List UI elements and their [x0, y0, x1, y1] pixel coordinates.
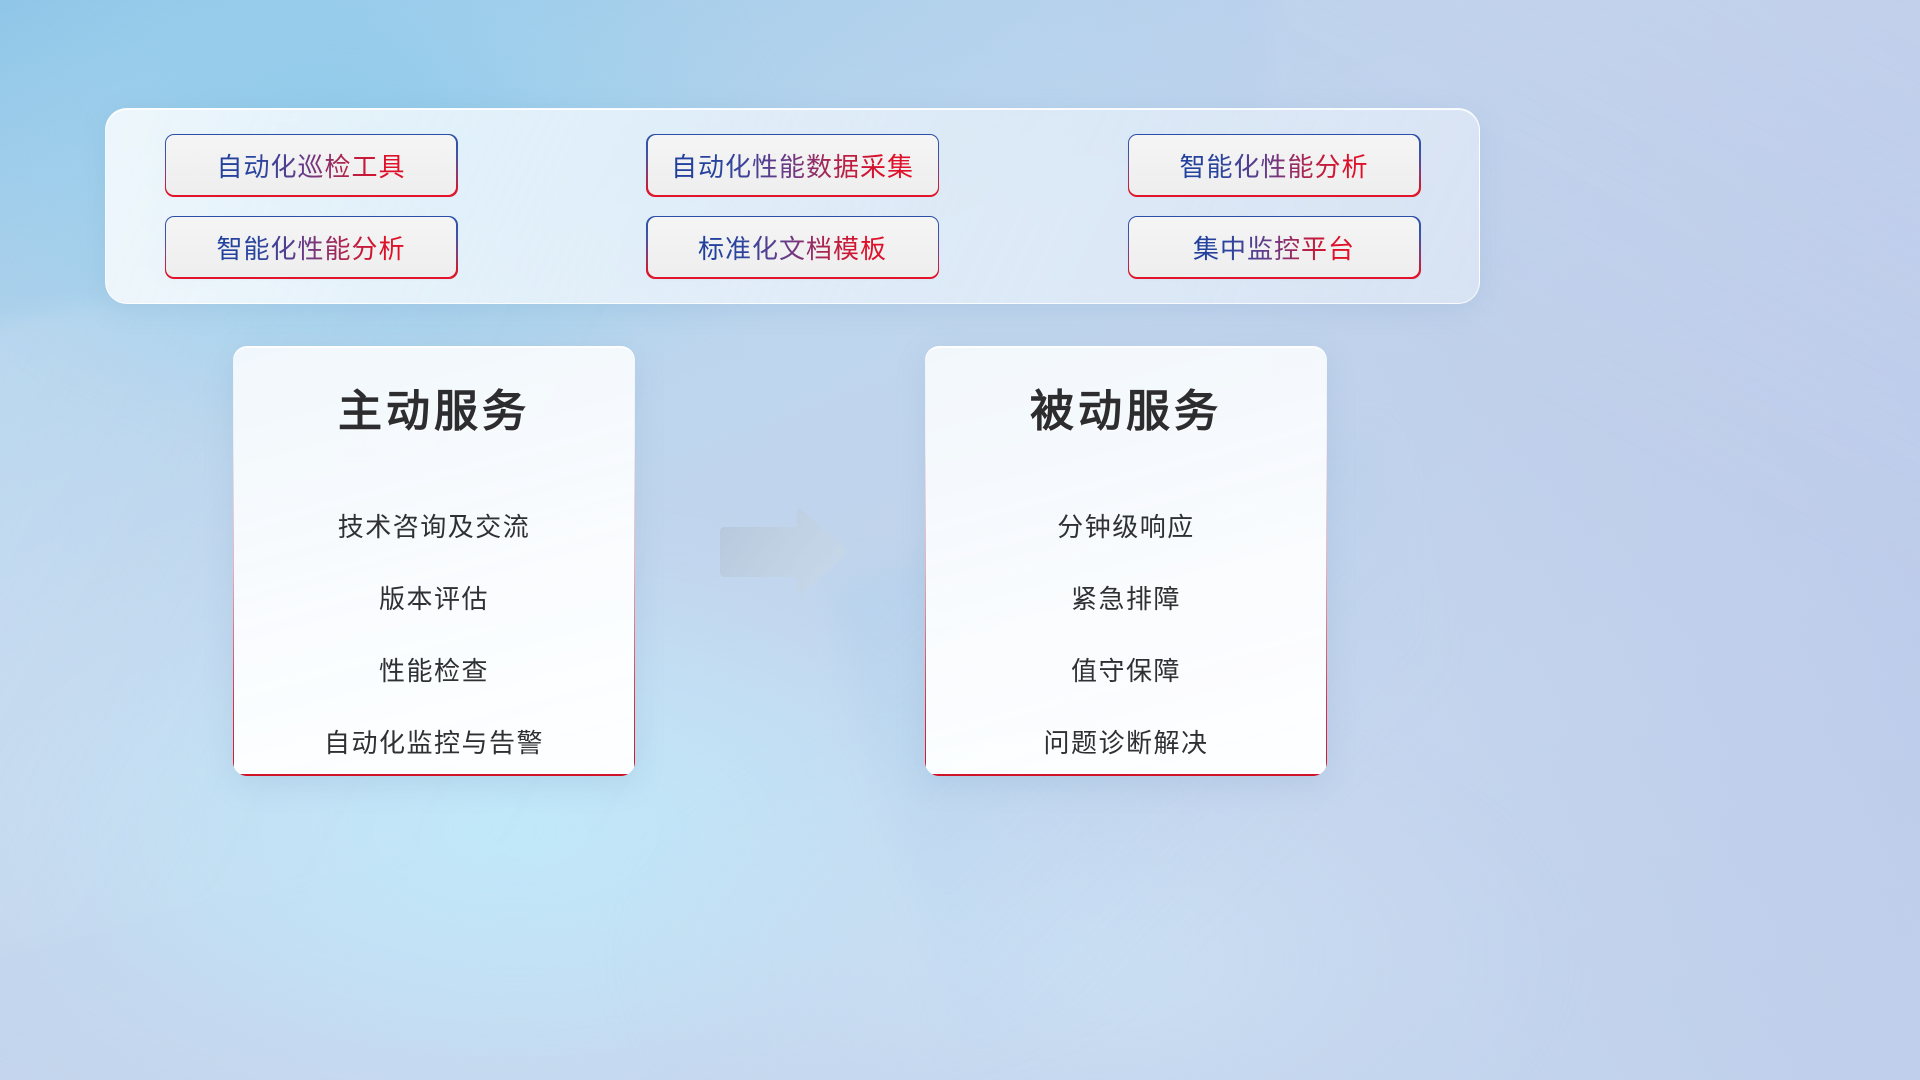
capability-tag-label: 标准化文档模板 — [698, 229, 887, 266]
capability-tag-row-2: 智能化性能分析 标准化文档模板 集中监控平台 — [166, 217, 1419, 277]
service-item-list: 分钟级响应 紧急排障 值守保障 问题诊断解决 SLA式服务 — [925, 491, 1327, 776]
service-list-item: 自动化监控与告警 — [324, 716, 544, 770]
service-card-active: 主动服务 技术咨询及交流 版本评估 性能检查 自动化监控与告警 健康巡检 — [233, 346, 635, 776]
capability-tag-automated-inspection-tool[interactable]: 自动化巡检工具 — [166, 135, 456, 195]
capability-tag-row-1: 自动化巡检工具 自动化性能数据采集 智能化性能分析 — [166, 135, 1419, 195]
card-accent-bottom-bar — [925, 774, 1327, 776]
capability-tag-centralized-monitoring-platform[interactable]: 集中监控平台 — [1129, 217, 1419, 277]
right-arrow-icon — [716, 506, 849, 598]
card-title: 主动服务 — [338, 375, 530, 439]
service-list-item: 紧急排障 — [1071, 572, 1181, 626]
card-title: 被动服务 — [1030, 375, 1222, 439]
capability-tag-label: 自动化巡检工具 — [216, 147, 405, 184]
capability-tag-label: 智能化性能分析 — [216, 229, 405, 266]
service-list-item: 技术咨询及交流 — [338, 500, 531, 554]
service-list-item: 值守保障 — [1071, 644, 1181, 698]
service-list-item: 分钟级响应 — [1057, 500, 1195, 554]
service-item-list: 技术咨询及交流 版本评估 性能检查 自动化监控与告警 健康巡检 — [233, 491, 635, 776]
service-list-item: 性能检查 — [379, 644, 489, 698]
capability-tag-standardized-document-template[interactable]: 标准化文档模板 — [648, 217, 938, 277]
service-card-passive: 被动服务 分钟级响应 紧急排障 值守保障 问题诊断解决 SLA式服务 — [925, 346, 1327, 776]
service-list-item: 版本评估 — [379, 572, 489, 626]
capability-tag-intelligent-performance-analysis-2[interactable]: 智能化性能分析 — [166, 217, 456, 277]
capability-tag-label: 智能化性能分析 — [1179, 147, 1368, 184]
capability-tag-label: 自动化性能数据采集 — [671, 147, 914, 184]
capability-tag-label: 集中监控平台 — [1193, 229, 1355, 266]
capability-tag-intelligent-performance-analysis-1[interactable]: 智能化性能分析 — [1129, 135, 1419, 195]
capability-tags-panel: 自动化巡检工具 自动化性能数据采集 智能化性能分析 智能化性能分析 标准化文档模… — [105, 108, 1480, 304]
capability-tag-automated-performance-data-collection[interactable]: 自动化性能数据采集 — [648, 135, 938, 195]
service-list-item: 问题诊断解决 — [1043, 716, 1208, 770]
card-accent-bottom-bar — [233, 774, 635, 776]
